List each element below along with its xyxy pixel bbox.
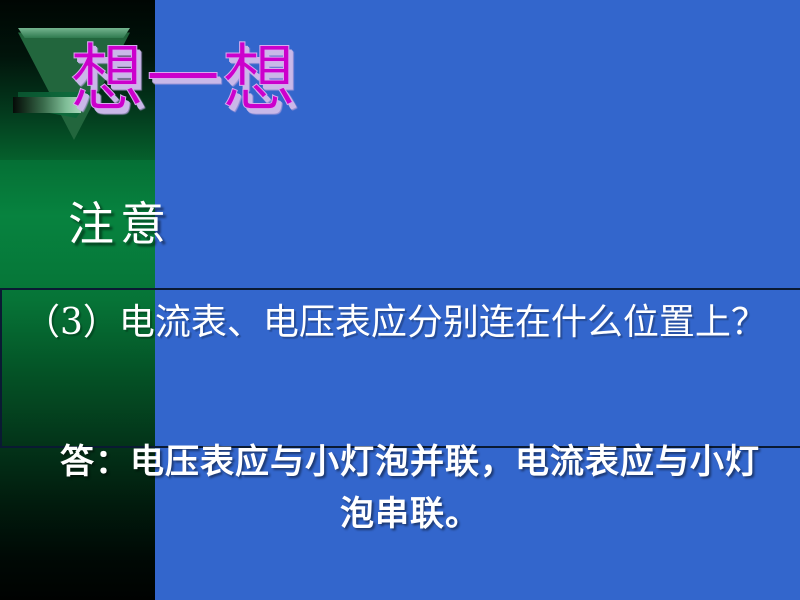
question-box: （3）电流表、电压表应分别连在什么位置上？ — [0, 288, 800, 448]
answer-text: 答：电压表应与小灯泡并联，电流表应与小灯泡串联。 — [60, 436, 760, 540]
note-heading: 注意 — [68, 198, 172, 250]
question-text: （3）电流表、电压表应分别连在什么位置上？ — [24, 296, 784, 350]
presentation-slide: 想一想 注意 （3）电流表、电压表应分别连在什么位置上？ 答：电压表应与小灯泡并… — [0, 0, 800, 600]
slide-title: 想一想 — [70, 38, 400, 120]
